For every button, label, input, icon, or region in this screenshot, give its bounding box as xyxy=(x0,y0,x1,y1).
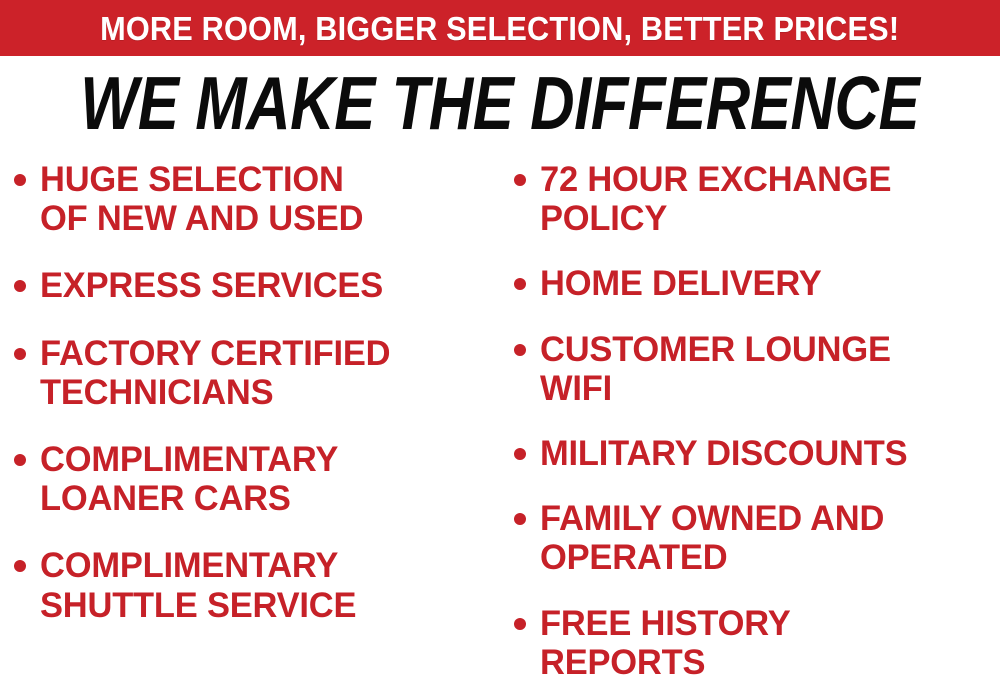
benefits-column-right: 72 HOUR EXCHANGE POLICY HOME DELIVERY CU… xyxy=(500,160,1000,694)
list-item: 72 HOUR EXCHANGE POLICY xyxy=(514,160,998,238)
list-item: FACTORY CERTIFIED TECHNICIANS xyxy=(14,334,494,412)
bullet-dot-icon xyxy=(14,174,26,186)
list-item-label: FAMILY OWNED AND OPERATED xyxy=(540,499,884,577)
banner-headline: MORE ROOM, BIGGER SELECTION, BETTER PRIC… xyxy=(100,12,899,45)
list-item: MILITARY DISCOUNTS xyxy=(514,434,998,473)
bullet-dot-icon xyxy=(514,448,526,460)
list-item-label: EXPRESS SERVICES xyxy=(40,266,383,305)
list-item-label: COMPLIMENTARY LOANER CARS xyxy=(40,440,338,518)
list-item: COMPLIMENTARY SHUTTLE SERVICE xyxy=(14,546,494,624)
list-item: FREE HISTORY REPORTS xyxy=(514,604,998,682)
bullet-dot-icon xyxy=(514,618,526,630)
benefits-column-left: HUGE SELECTION OF NEW AND USED EXPRESS S… xyxy=(0,160,500,653)
top-banner: MORE ROOM, BIGGER SELECTION, BETTER PRIC… xyxy=(0,0,1000,56)
bullet-dot-icon xyxy=(14,280,26,292)
list-item-label: HUGE SELECTION OF NEW AND USED xyxy=(40,160,363,238)
bullet-dot-icon xyxy=(514,174,526,186)
headline-container: WE MAKE THE DIFFERENCE xyxy=(0,66,1000,136)
list-item: HOME DELIVERY xyxy=(514,264,998,303)
page-title: WE MAKE THE DIFFERENCE xyxy=(80,66,919,141)
list-item-label: COMPLIMENTARY SHUTTLE SERVICE xyxy=(40,546,356,624)
bullet-dot-icon xyxy=(514,278,526,290)
list-item-label: 72 HOUR EXCHANGE POLICY xyxy=(540,160,891,238)
list-item: COMPLIMENTARY LOANER CARS xyxy=(14,440,494,518)
list-item: EXPRESS SERVICES xyxy=(14,266,494,305)
bullet-dot-icon xyxy=(14,454,26,466)
list-item: HUGE SELECTION OF NEW AND USED xyxy=(14,160,494,238)
bullet-dot-icon xyxy=(514,513,526,525)
list-item-label: FREE HISTORY REPORTS xyxy=(540,604,790,682)
bullet-dot-icon xyxy=(514,344,526,356)
list-item: FAMILY OWNED AND OPERATED xyxy=(514,499,998,577)
list-item-label: FACTORY CERTIFIED TECHNICIANS xyxy=(40,334,390,412)
promotional-poster: MORE ROOM, BIGGER SELECTION, BETTER PRIC… xyxy=(0,0,1000,694)
benefits-columns: HUGE SELECTION OF NEW AND USED EXPRESS S… xyxy=(0,160,1000,694)
list-item-label: MILITARY DISCOUNTS xyxy=(540,434,907,473)
list-item-label: CUSTOMER LOUNGE WIFI xyxy=(540,330,891,408)
list-item: CUSTOMER LOUNGE WIFI xyxy=(514,330,998,408)
bullet-dot-icon xyxy=(14,348,26,360)
list-item-label: HOME DELIVERY xyxy=(540,264,822,303)
bullet-dot-icon xyxy=(14,560,26,572)
